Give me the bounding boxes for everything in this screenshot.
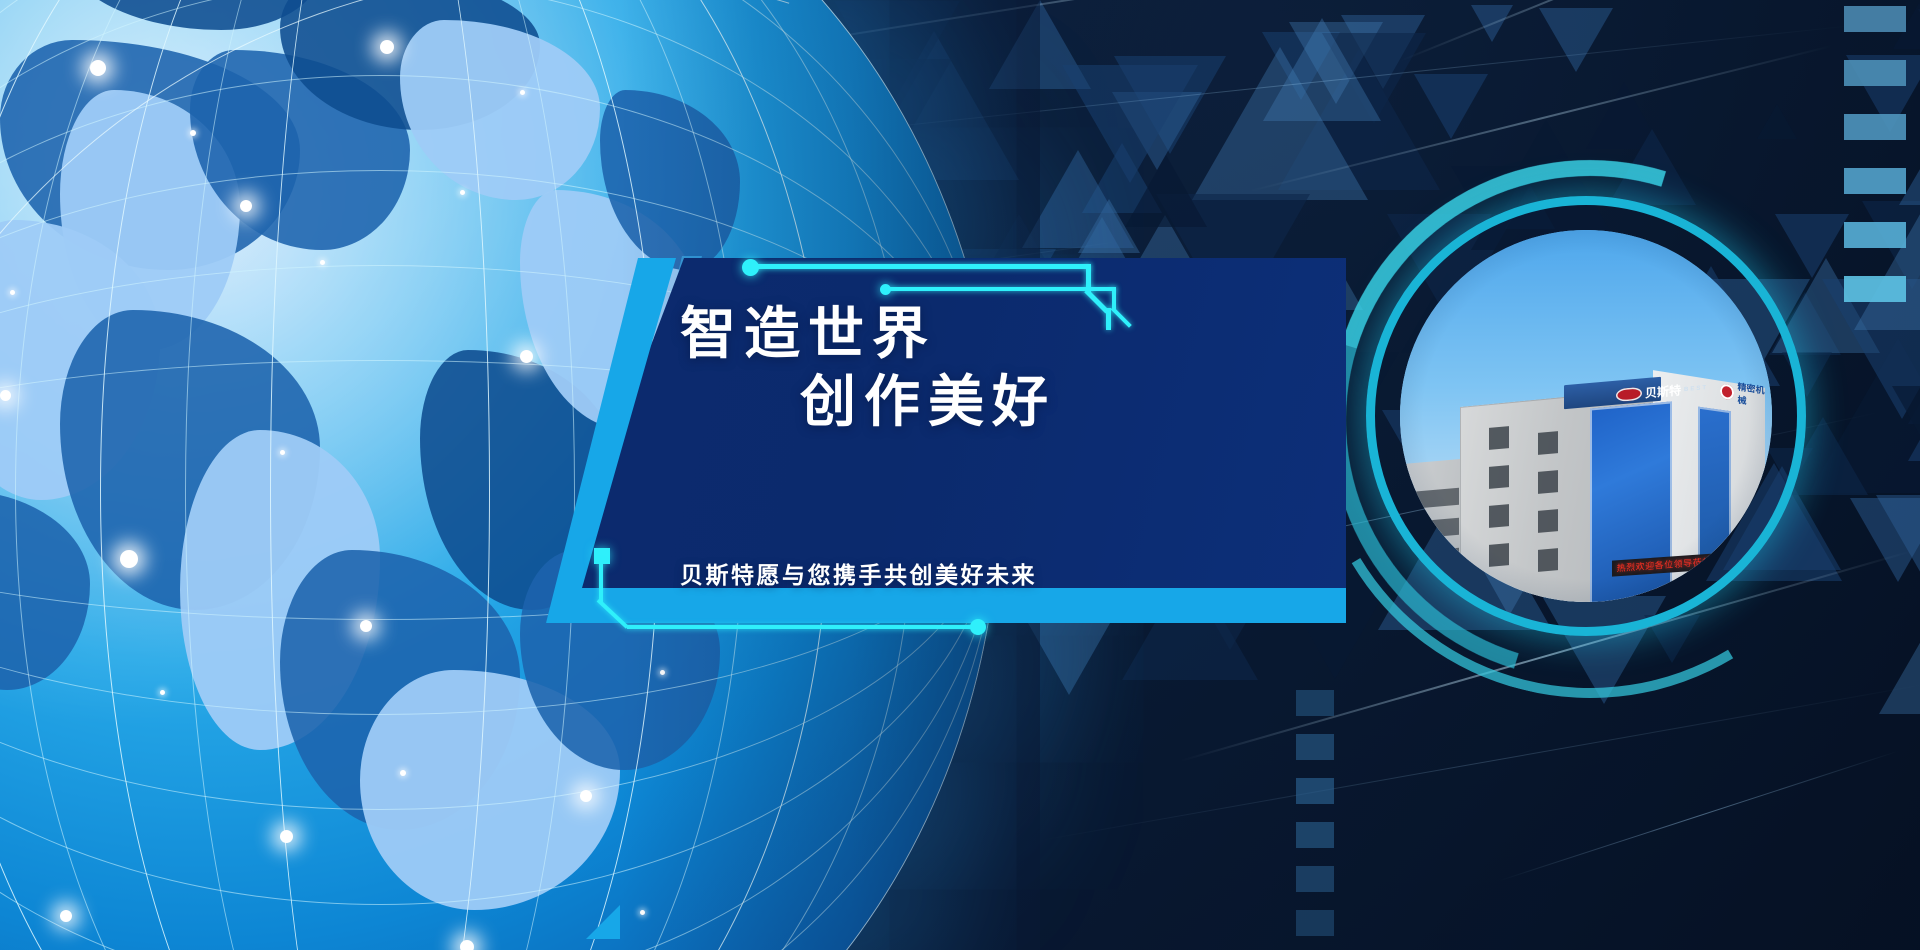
mid-bar bbox=[1296, 910, 1334, 936]
edge-bar bbox=[1844, 60, 1906, 86]
mid-dash-bars bbox=[1296, 690, 1334, 950]
mid-bar bbox=[1296, 822, 1334, 848]
circuit-line-second bbox=[888, 287, 1116, 291]
mid-bar bbox=[1296, 734, 1334, 760]
circuit-line-bottom bbox=[627, 625, 977, 629]
edge-bar bbox=[1844, 222, 1906, 248]
headline-line-2: 创作美好 bbox=[800, 368, 1320, 436]
edge-bar bbox=[1844, 276, 1906, 302]
corner-triangle-accent bbox=[586, 905, 620, 939]
mid-bar bbox=[1296, 866, 1334, 892]
edge-bar bbox=[1844, 6, 1906, 32]
circuit-line-top bbox=[752, 264, 1090, 269]
hero-banner: 贝斯特 BEST 精密机械 热烈欢迎各位领导莅临 bbox=[0, 0, 1920, 950]
mid-bar bbox=[1296, 690, 1334, 716]
circuit-dot-bottom bbox=[970, 619, 986, 635]
headline-subtitle: 贝斯特愿与您携手共创美好未来 bbox=[680, 556, 1037, 590]
headline-block: 智造世界 创作美好 bbox=[680, 300, 1320, 437]
headline-line-1: 智造世界 bbox=[680, 300, 1320, 368]
edge-bar bbox=[1844, 168, 1906, 194]
circuit-line-bottom-vert bbox=[599, 562, 603, 602]
edge-dash-bars bbox=[1844, 6, 1906, 302]
edge-bar bbox=[1844, 114, 1906, 140]
mid-bar bbox=[1296, 778, 1334, 804]
